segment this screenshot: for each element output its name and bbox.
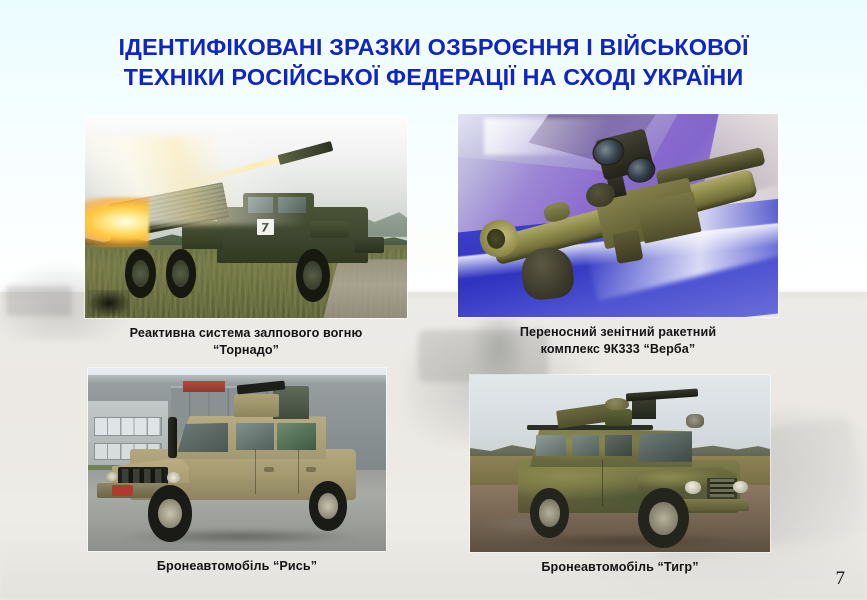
vehicle-wheel [638, 488, 689, 548]
item-card-tigr: Бронеавтомобіль “Тигр” [470, 375, 770, 576]
item-card-rys: Бронеавтомобіль “Рись” [88, 368, 386, 575]
door-seam [298, 449, 299, 495]
slide-title-line-1: ІДЕНТИФІКОВАНІ ЗРАЗКИ ОЗБРОЄННЯ І ВІЙСЬК… [0, 32, 867, 62]
door-handle [264, 467, 274, 472]
side-window [605, 435, 632, 456]
side-window [572, 435, 599, 456]
presentation-slide: ІДЕНТИФІКОВАНІ ЗРАЗКИ ОЗБРОЄННЯ І ВІЙСЬК… [0, 0, 867, 600]
door-seam [255, 449, 256, 495]
headlight [167, 472, 180, 482]
fuel-tank [310, 221, 349, 238]
roof-weapon-station [234, 394, 279, 418]
muzzle-flash [85, 197, 149, 248]
photo-mlrs-tornado-firing [85, 116, 407, 318]
slide-title: ІДЕНТИФІКОВАНІ ЗРАЗКИ ОЗБРОЄННЯ І ВІЙСЬК… [0, 32, 867, 92]
photo-armored-car-tigr [470, 375, 770, 552]
side-mirror [686, 414, 704, 428]
background-vehicle-left-body-watermark [6, 286, 72, 316]
item-caption-mlrs-tornado: Реактивна система залпового вогню “Торна… [85, 325, 407, 358]
side-window [236, 423, 275, 450]
photo-armored-car-rys [88, 368, 386, 551]
item-card-mlrs-tornado: Реактивна система залпового вогню “Торна… [85, 116, 407, 358]
caption-line-1: Бронеавтомобіль “Рись” [88, 558, 386, 575]
turret-gunner [605, 409, 632, 427]
slide-title-line-2: ТЕХНІКИ РОСІЙСЬКОЇ ФЕДЕРАЦІЇ НА СХОДІ УК… [0, 62, 867, 92]
caption-line-1: Переносний зенітний ракетний [458, 324, 778, 341]
winch-hook [112, 485, 133, 496]
caption-line-2: “Торнадо” [85, 342, 407, 359]
building-roof-trim [88, 375, 386, 384]
pistol-grip [612, 230, 642, 264]
caption-line-2: комплекс 9К333 “Верба” [458, 341, 778, 358]
item-caption-manpads-verba: Переносний зенітний ракетний комплекс 9К… [458, 324, 778, 357]
truck-wheel [166, 249, 197, 297]
door-seam [602, 460, 603, 506]
headlight [685, 481, 702, 493]
side-window [277, 423, 316, 450]
foreground-debris [88, 290, 130, 316]
side-window [536, 435, 566, 456]
page-number: 7 [836, 568, 846, 590]
roof-rail [527, 425, 653, 430]
front-bumper [355, 237, 384, 253]
building-window [94, 417, 162, 435]
building-sign [183, 381, 225, 392]
windshield [638, 432, 692, 462]
item-caption-rys: Бронеавтомобіль “Рись” [88, 558, 386, 575]
truck-wheel [296, 249, 330, 302]
item-card-manpads-verba: Переносний зенітний ракетний комплекс 9К… [458, 114, 778, 357]
gun-mount [632, 398, 656, 419]
vehicle-wheel [530, 488, 569, 538]
caption-line-1: Бронеавтомобіль “Тигр” [470, 559, 770, 576]
air-snorkel [168, 417, 177, 457]
door-handle [306, 467, 316, 472]
photo-manpads-9k333-verba [458, 114, 778, 317]
front-bumper [680, 499, 749, 511]
headlight [733, 481, 748, 493]
item-caption-tigr: Бронеавтомобіль “Тигр” [470, 559, 770, 576]
vehicle-wheel [309, 481, 348, 530]
caption-line-1: Реактивна система залпового вогню [85, 325, 407, 342]
vehicle-wheel [148, 485, 193, 542]
windshield [177, 423, 228, 452]
